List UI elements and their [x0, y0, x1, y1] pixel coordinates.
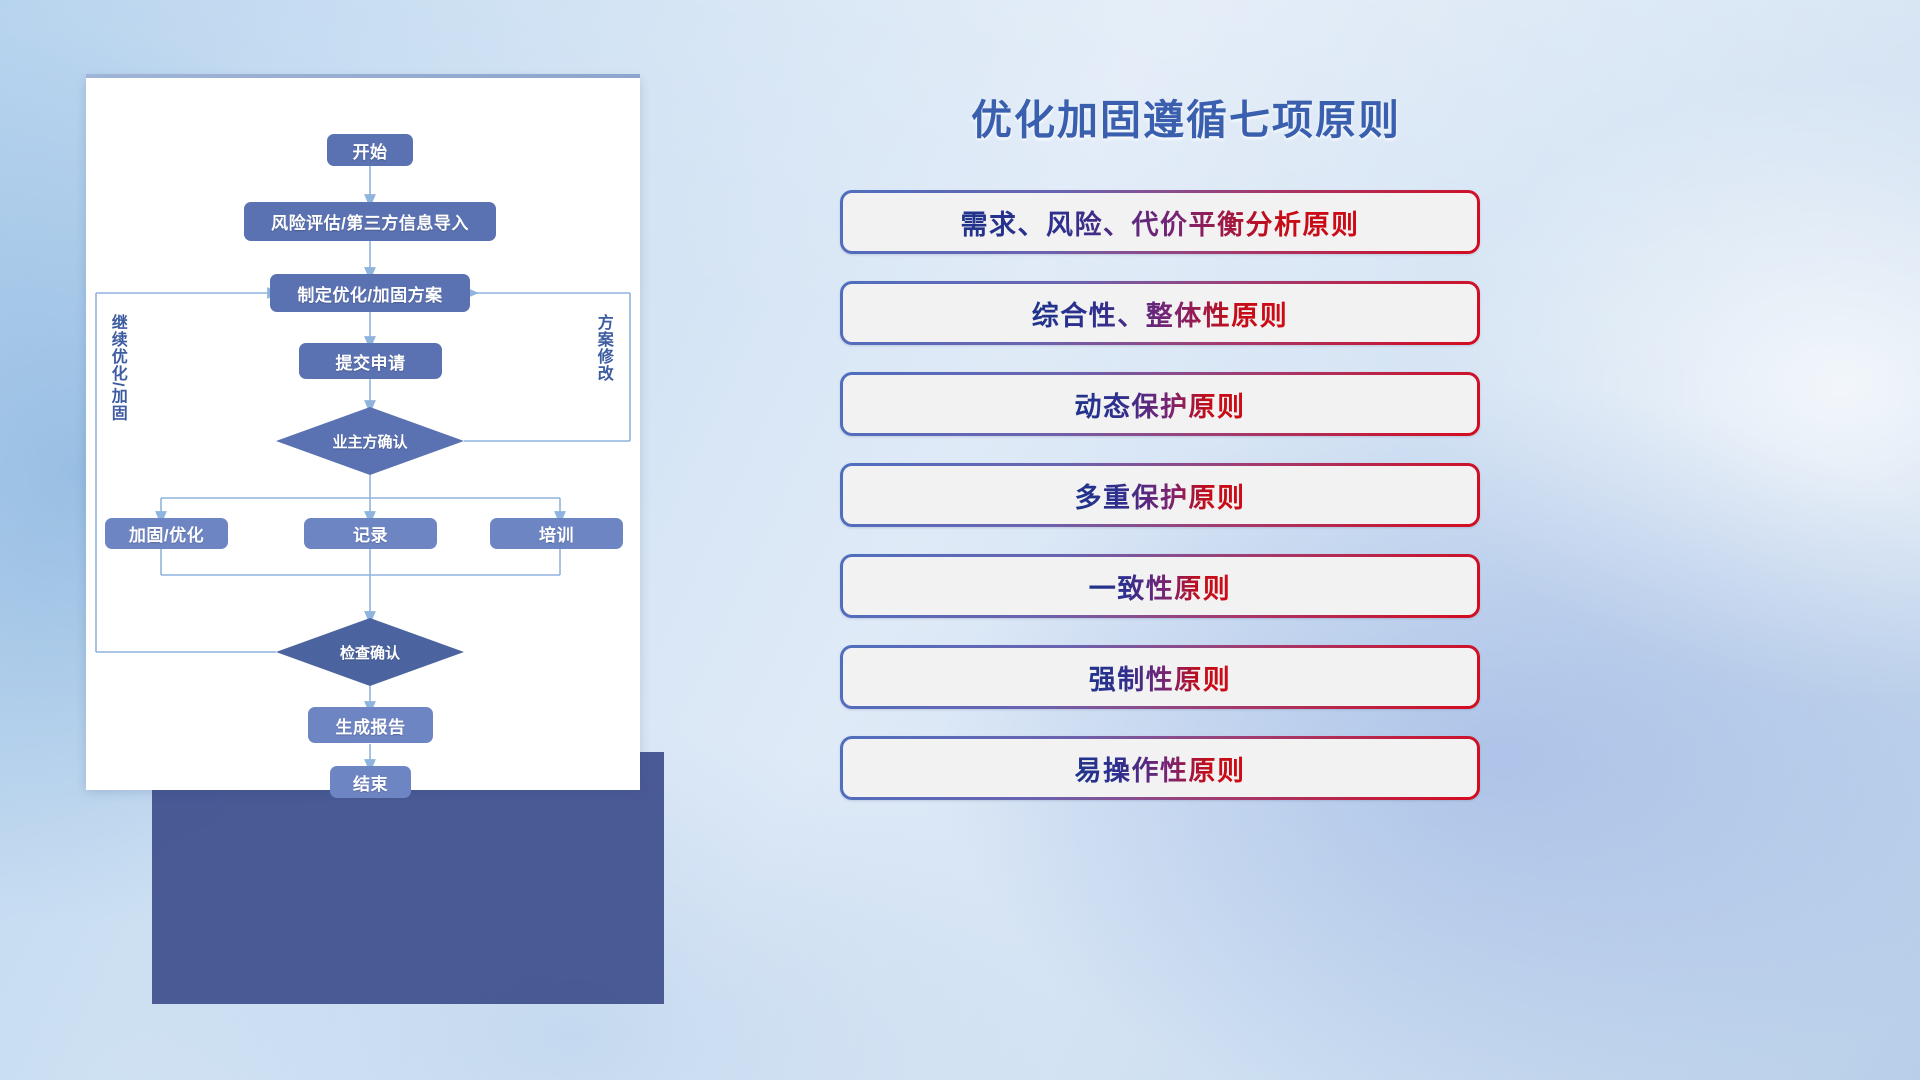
flow-node-label: 加固/优化: [129, 521, 204, 546]
principle-label: 易操作性原则: [1075, 749, 1246, 788]
principle-card-5[interactable]: 一致性原则: [840, 554, 1480, 618]
page-title: 优化加固遵循七项原则: [836, 86, 1536, 146]
flow-node-reinforce-optimize[interactable]: 加固/优化: [105, 518, 228, 549]
edge-label-text: 继续优化/加固: [109, 314, 126, 421]
flow-node-generate-report[interactable]: 生成报告: [308, 707, 433, 743]
flow-node-label: 检查确认: [340, 642, 400, 663]
flow-node-label: 结束: [353, 770, 388, 795]
edge-label-text: 方案修改: [595, 314, 612, 382]
principle-card-4[interactable]: 多重保护原则: [840, 463, 1480, 527]
flow-node-end[interactable]: 结束: [330, 766, 411, 798]
flow-edge-label-continue-optimize: 继续优化/加固: [108, 314, 125, 421]
flow-node-training[interactable]: 培训: [490, 518, 623, 549]
flow-node-make-plan[interactable]: 制定优化/加固方案: [270, 274, 470, 312]
principle-label: 多重保护原则: [1075, 476, 1246, 515]
flow-node-label: 生成报告: [336, 713, 406, 738]
flow-node-label: 记录: [353, 521, 388, 546]
flow-node-record[interactable]: 记录: [304, 518, 437, 549]
principle-card-1[interactable]: 需求、风险、代价平衡分析原则: [840, 190, 1480, 254]
flow-node-owner-confirm[interactable]: 业主方确认: [276, 407, 464, 475]
flow-edge-label-plan-revision: 方案修改: [594, 314, 611, 382]
principle-label: 需求、风险、代价平衡分析原则: [961, 203, 1360, 242]
principle-card-6[interactable]: 强制性原则: [840, 645, 1480, 709]
flow-node-label: 风险评估/第三方信息导入: [271, 209, 469, 234]
principle-label: 综合性、整体性原则: [1032, 294, 1289, 333]
principle-card-3[interactable]: 动态保护原则: [840, 372, 1480, 436]
principle-card-2[interactable]: 综合性、整体性原则: [840, 281, 1480, 345]
flow-node-check-confirm[interactable]: 检查确认: [276, 618, 464, 686]
principle-card-7[interactable]: 易操作性原则: [840, 736, 1480, 800]
principles-panel: 优化加固遵循七项原则 需求、风险、代价平衡分析原则 综合性、整体性原则 动态保护…: [836, 0, 1920, 1080]
flow-node-start[interactable]: 开始: [327, 134, 413, 166]
flow-node-label: 开始: [353, 138, 388, 163]
flow-node-label: 业主方确认: [332, 431, 407, 452]
principle-label: 动态保护原则: [1075, 385, 1246, 424]
flow-node-label: 提交申请: [336, 349, 406, 374]
principle-label: 强制性原则: [1089, 658, 1232, 697]
flow-node-label: 制定优化/加固方案: [297, 281, 442, 306]
principles-list: 需求、风险、代价平衡分析原则 综合性、整体性原则 动态保护原则 多重保护原则 一…: [840, 190, 1480, 827]
flow-node-risk-assessment[interactable]: 风险评估/第三方信息导入: [244, 202, 496, 241]
flowchart-panel: 开始 风险评估/第三方信息导入 制定优化/加固方案 提交申请 业主方确认 加固/…: [86, 78, 640, 790]
flow-node-submit-application[interactable]: 提交申请: [299, 343, 442, 379]
flow-node-label: 培训: [539, 521, 574, 546]
principle-label: 一致性原则: [1089, 567, 1232, 606]
